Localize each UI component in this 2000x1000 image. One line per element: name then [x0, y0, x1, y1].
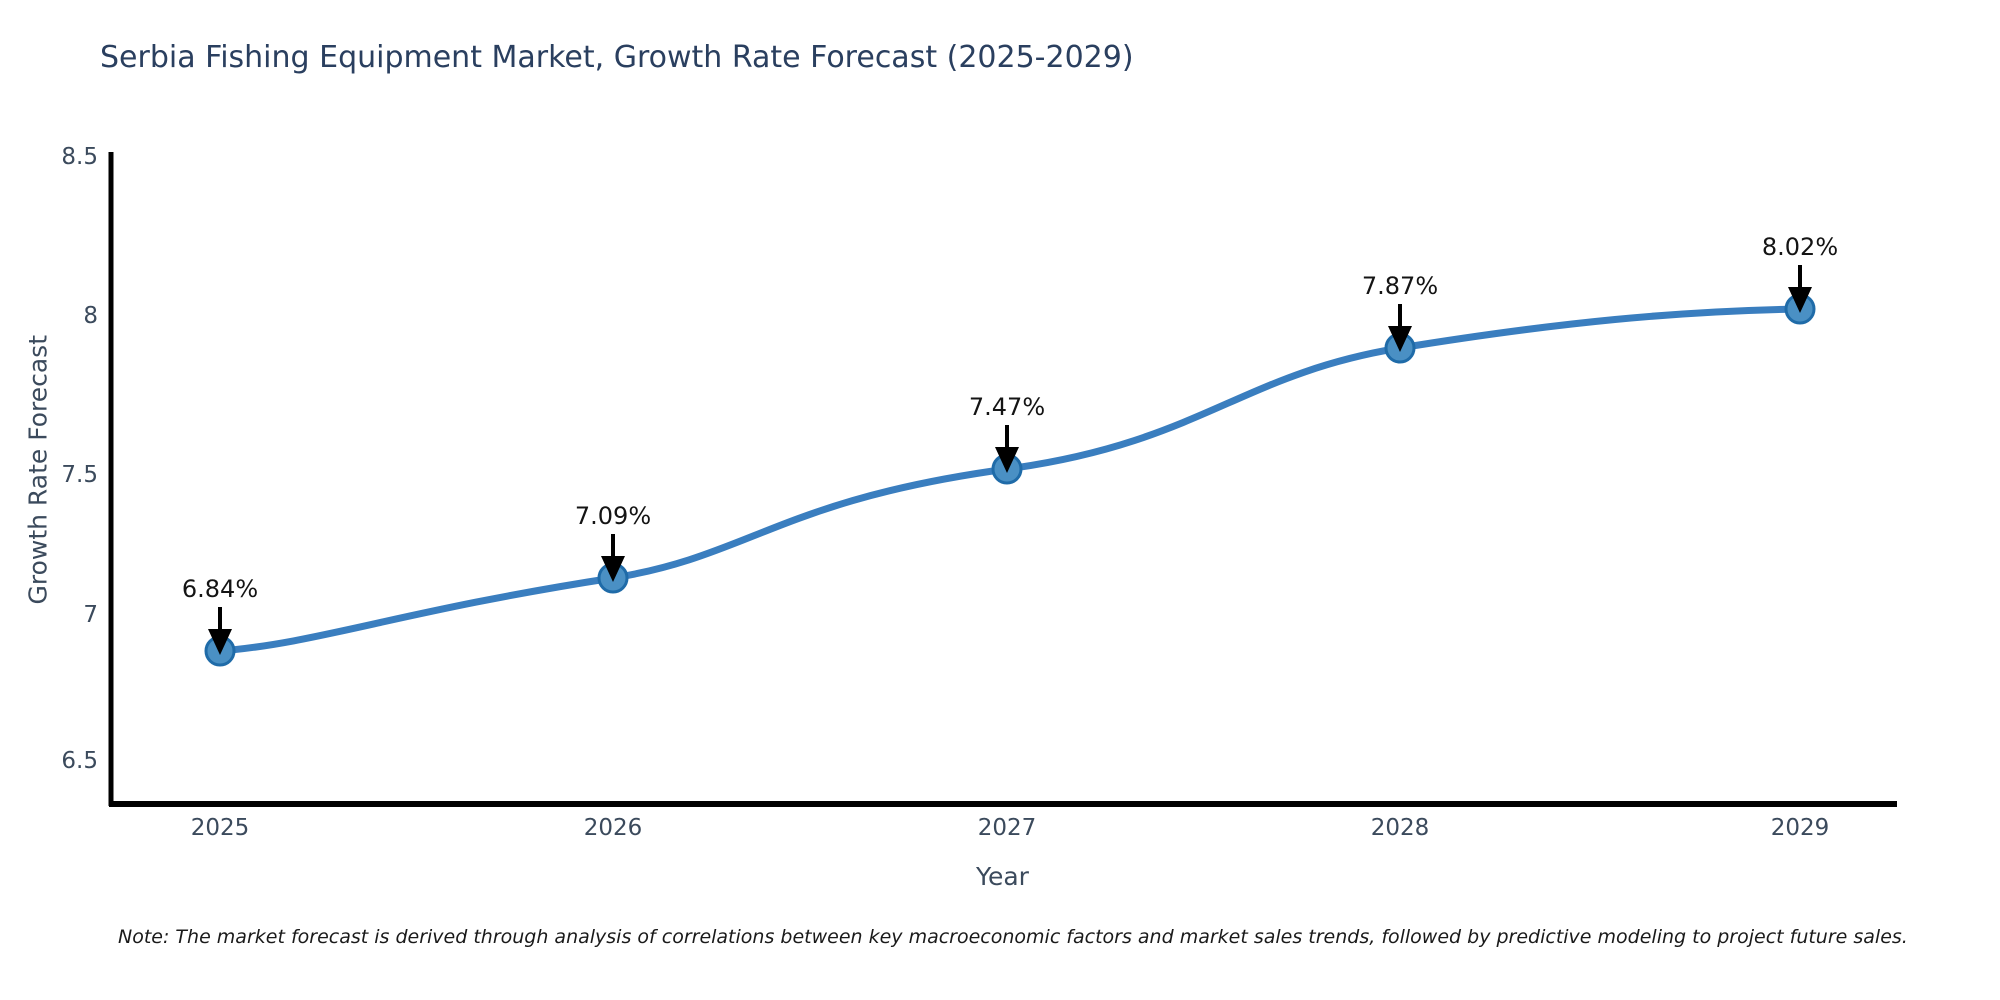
chart-footnote: Note: The market forecast is derived thr… [118, 926, 1908, 948]
x-tick-label-2025: 2025 [150, 815, 290, 841]
y-tick-label-6-5: 6.5 [28, 748, 98, 774]
x-tick-label-2028: 2028 [1330, 815, 1470, 841]
x-tick-label-2029: 2029 [1730, 815, 1870, 841]
y-tick-label-7: 7 [28, 602, 98, 628]
point-label-2025: 6.84% [140, 575, 300, 603]
x-tick-label-2027: 2027 [937, 815, 1077, 841]
x-tick-label-2026: 2026 [543, 815, 683, 841]
x-axis-title: Year [0, 862, 2000, 891]
chart-figure: Serbia Fishing Equipment Market, Growth … [0, 0, 2000, 1000]
y-axis-title: Growth Rate Forecast [24, 345, 53, 605]
point-label-2027: 7.47% [927, 393, 1087, 421]
point-label-2028: 7.87% [1320, 272, 1480, 300]
y-tick-label-8: 8 [28, 303, 98, 329]
plot-canvas [0, 0, 2000, 1000]
y-tick-label-8-5: 8.5 [28, 144, 98, 170]
point-label-2026: 7.09% [533, 502, 693, 530]
point-label-2029: 8.02% [1720, 233, 1880, 261]
